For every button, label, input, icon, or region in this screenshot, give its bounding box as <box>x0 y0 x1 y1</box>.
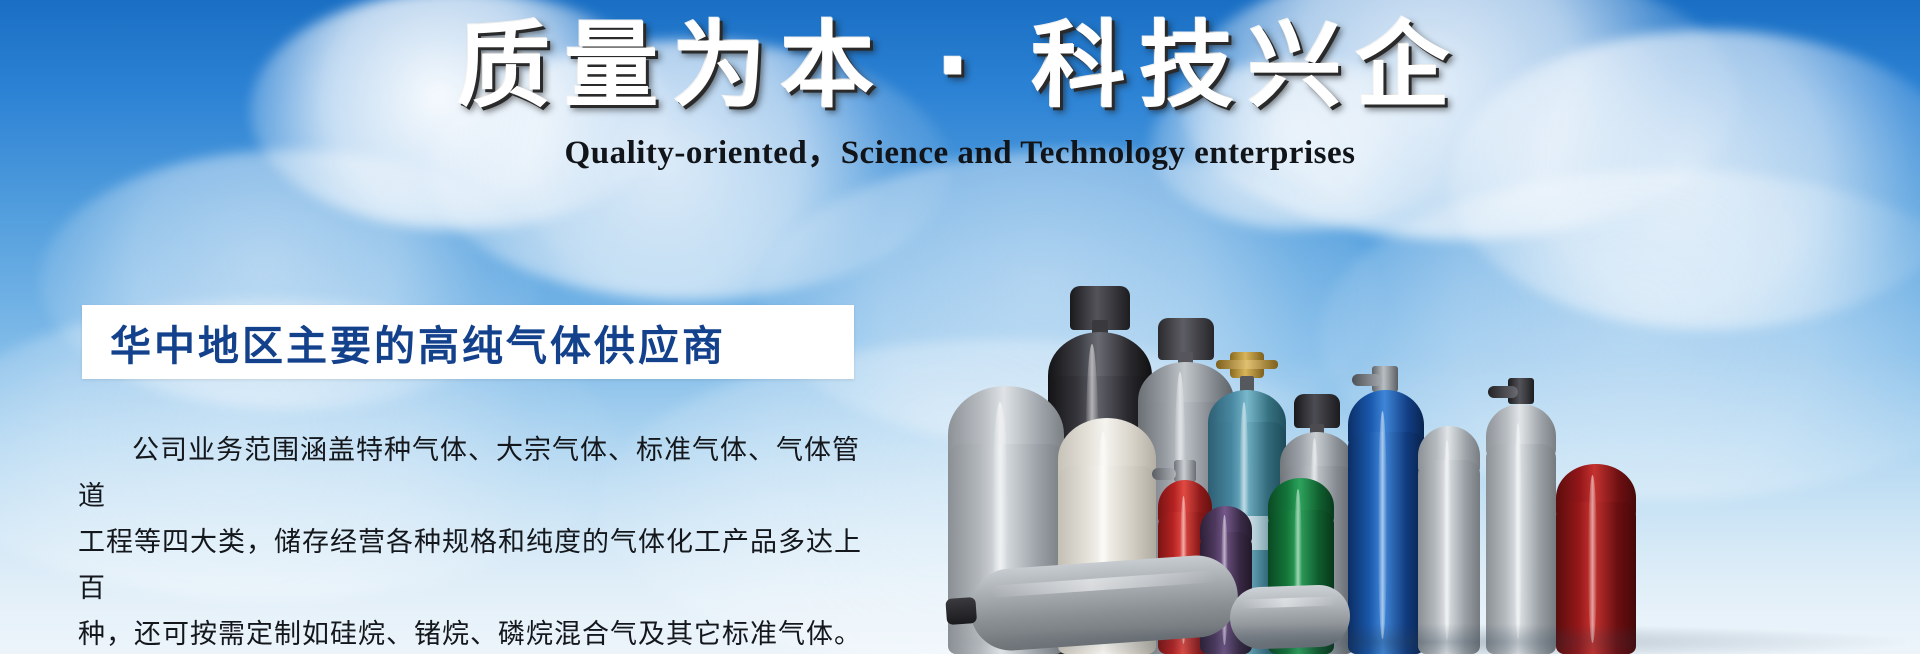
cylinder-body <box>1348 432 1424 654</box>
cylinder-cap <box>1294 394 1340 428</box>
paragraph-line-text: 公司业务范围涵盖特种气体、大宗气体、标准气体、气体管道 <box>78 435 860 512</box>
slogan-bar: 华中地区主要的高纯气体供应商 <box>82 305 854 379</box>
paragraph-line-text: 工程等四大类，储存经营各种规格和纯度的气体化工产品多达上百 <box>78 527 862 604</box>
promo-banner: 质量为本 · 科技兴企 Quality-oriented，Science and… <box>0 0 1920 654</box>
silver-slim-cylinder <box>1418 426 1480 654</box>
cylinder-valve-handle <box>1216 360 1278 369</box>
slogan-text: 华中地区主要的高纯气体供应商 <box>82 312 726 372</box>
cylinder-valve-knob <box>1488 386 1518 398</box>
headline-block: 质量为本 · 科技兴企 Quality-oriented，Science and… <box>0 18 1920 173</box>
gas-cylinder-lineup <box>930 160 1920 654</box>
lying-small-cylinder-gloss <box>1241 596 1337 608</box>
cylinder-valve-knob <box>1352 374 1382 386</box>
paragraph-line: 工程等四大类，储存经营各种规格和纯度的气体化工产品多达上百 <box>78 520 868 612</box>
paragraph-line: 公司业务范围涵盖特种气体、大宗气体、标准气体、气体管道 <box>78 428 868 520</box>
cylinder-valve <box>1174 460 1196 482</box>
cylinder-valve-knob <box>1152 468 1176 480</box>
cylinder-body <box>1486 444 1556 654</box>
lying-cylinder-valve <box>945 597 977 625</box>
product-ground-shadow <box>955 624 1905 654</box>
silver-valve-cylinder <box>1486 408 1556 654</box>
paragraph-line: 种，还可按需定制如硅烷、锗烷、磷烷混合气及其它标准气体。 <box>78 612 868 654</box>
blue-cylinder <box>1348 396 1424 654</box>
banner-headline: 质量为本 · 科技兴企 <box>0 18 1920 117</box>
paragraph-line-text: 种，还可按需定制如硅烷、锗烷、磷烷混合气及其它标准气体。 <box>78 619 862 650</box>
lying-cylinder-gloss <box>990 570 1215 598</box>
banner-paragraph: 公司业务范围涵盖特种气体、大宗气体、标准气体、气体管道 工程等四大类，储存经营各… <box>78 428 868 654</box>
